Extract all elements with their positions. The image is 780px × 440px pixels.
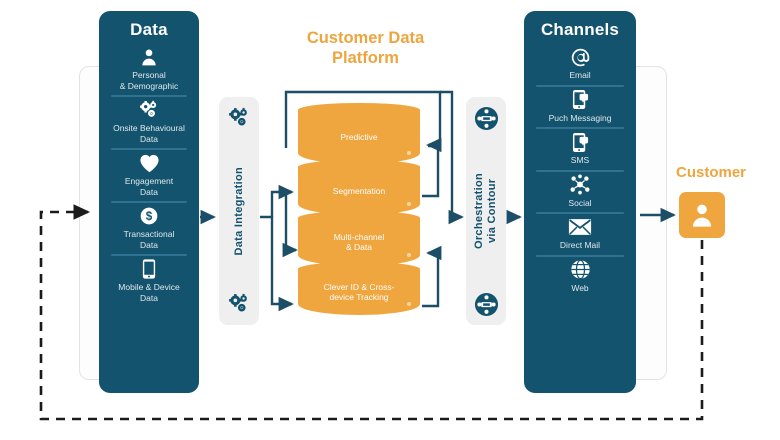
channels-column: Channels Email Puch Messaging SMS <box>524 11 636 393</box>
data-column-items: Personal& Demographic <box>105 42 193 307</box>
envelope-icon <box>532 216 628 238</box>
cylinder-dot <box>407 151 411 155</box>
data-item-label: Onsite BehaviouralData <box>107 123 191 144</box>
cylinder-multichannel[interactable]: Multi-channel& Data <box>298 218 420 266</box>
gears-cluster-icon <box>107 99 191 121</box>
person-icon <box>688 201 716 229</box>
data-item-label: Personal& Demographic <box>107 70 191 91</box>
sms-phone-icon <box>532 131 628 153</box>
channel-item-label: Email <box>532 70 628 81</box>
globe-icon <box>532 259 628 281</box>
channel-item-label: Direct Mail <box>532 240 628 251</box>
cylinder-label: Segmentation <box>323 186 395 197</box>
channel-item-sms[interactable]: SMS <box>530 127 630 170</box>
customer-title: Customer <box>649 164 773 181</box>
arrow-integration-to-segmentation <box>272 192 292 217</box>
channel-item-direct-mail[interactable]: Direct Mail <box>530 212 630 255</box>
platform-title-line1: Customer Data <box>307 29 424 47</box>
channel-item-push-messaging[interactable]: Puch Messaging <box>530 85 630 128</box>
data-item-onsite-behavioural[interactable]: Onsite BehaviouralData <box>105 95 193 148</box>
arrow-integration-to-cleverid <box>260 217 292 304</box>
data-item-transactional[interactable]: $ TransactionalData <box>105 201 193 254</box>
arrow-right-lower-hook <box>422 253 438 306</box>
orchestration-label: Orchestrationvia Contour <box>473 173 499 249</box>
social-network-icon <box>532 174 628 196</box>
data-item-personal[interactable]: Personal& Demographic <box>105 42 193 95</box>
channel-item-email[interactable]: Email <box>530 42 630 85</box>
channel-item-label: Puch Messaging <box>532 113 628 124</box>
channel-item-label: Web <box>532 283 628 294</box>
network-hub-icon <box>474 105 499 131</box>
orchestration-panel[interactable]: Orchestrationvia Contour <box>466 97 506 325</box>
data-column-title: Data <box>105 20 193 40</box>
channel-item-web[interactable]: Web <box>530 255 630 298</box>
heart-icon <box>107 152 191 174</box>
cylinder-body: Multi-channel& Data <box>298 218 420 266</box>
platform-cylinder-stack: Predictive Segmentation Multi-channel& D… <box>298 110 420 318</box>
customer-box[interactable] <box>679 192 725 238</box>
channels-column-items: Email Puch Messaging SMS <box>530 42 630 297</box>
gears-cluster-icon <box>227 105 251 131</box>
cylinder-body: Clever ID & Cross-device Tracking <box>298 269 420 315</box>
data-item-label: Mobile & DeviceData <box>107 282 191 303</box>
platform-title: Customer Data Platform <box>268 28 463 68</box>
diagram-canvas: Data Personal& Demographic <box>0 0 780 440</box>
data-column: Data Personal& Demographic <box>99 11 199 393</box>
cylinder-body: Segmentation <box>298 167 420 215</box>
dollar-coin-icon: $ <box>107 205 191 227</box>
cylinder-dot <box>407 202 411 206</box>
data-item-label: EngagementData <box>107 176 191 197</box>
cylinder-predictive[interactable]: Predictive <box>298 110 420 164</box>
cylinder-label: Clever ID & Cross-device Tracking <box>314 282 405 303</box>
cylinder-dot <box>407 253 411 257</box>
svg-text:$: $ <box>146 210 153 223</box>
mobile-phone-icon <box>107 258 191 280</box>
data-integration-panel[interactable]: Data Integration <box>219 97 259 325</box>
wire-right-upper-hook <box>422 146 438 196</box>
channel-item-label: SMS <box>532 155 628 166</box>
channel-item-label: Social <box>532 198 628 209</box>
arrow-branch-to-multichannel <box>286 192 296 250</box>
person-icon <box>107 46 191 68</box>
data-item-label: TransactionalData <box>107 229 191 250</box>
cylinder-segmentation[interactable]: Segmentation <box>298 167 420 215</box>
channels-column-title: Channels <box>530 20 630 40</box>
arrow-cdp-to-orchestration <box>440 92 462 217</box>
data-item-engagement[interactable]: EngagementData <box>105 148 193 201</box>
cylinder-dot <box>407 302 411 306</box>
at-sign-icon <box>532 46 628 68</box>
channel-item-social[interactable]: Social <box>530 170 630 213</box>
cylinder-clever-id[interactable]: Clever ID & Cross-device Tracking <box>298 269 420 315</box>
cylinder-label: Multi-channel& Data <box>324 232 395 253</box>
push-notification-icon <box>532 89 628 111</box>
cylinder-body: Predictive <box>298 110 420 164</box>
gears-cluster-icon <box>227 291 251 317</box>
platform-title-line2: Platform <box>332 49 399 67</box>
network-hub-icon <box>474 291 499 317</box>
cylinder-label: Predictive <box>330 132 387 143</box>
data-integration-label: Data Integration <box>233 167 246 256</box>
data-item-mobile-device[interactable]: Mobile & DeviceData <box>105 254 193 307</box>
